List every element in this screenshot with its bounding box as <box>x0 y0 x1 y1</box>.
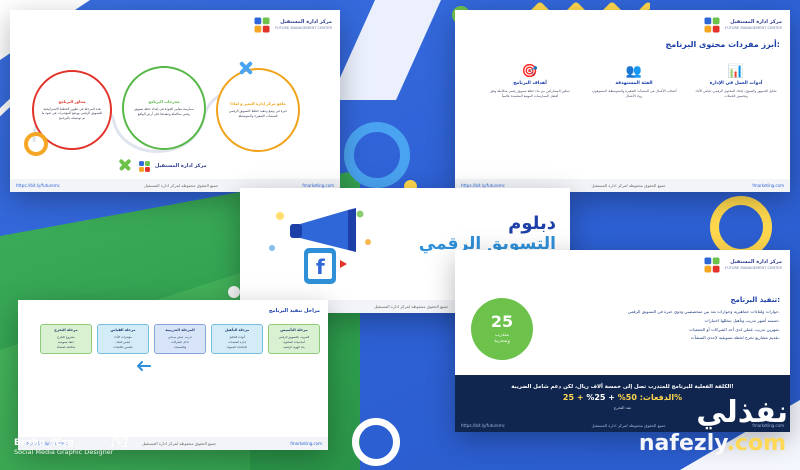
slide1-x-green <box>118 156 132 170</box>
designer-credit: Basha_dEsg Social Media Graphic Designer <box>14 438 113 456</box>
slide4-offer-2: + 25% <box>586 393 615 402</box>
slide2-col2-body: أصحاب الأعمال في المنشآت الصغيرة والمتوس… <box>590 89 678 100</box>
bubble-yellow-head: ماهو مركز إدارة التميز و لماذا <box>225 101 291 107</box>
brand-name: مركز ادارة المستقبل <box>730 259 782 265</box>
brand-text: مركز ادارة المستقبل FUTURE MANAGEMENT CE… <box>275 20 332 30</box>
flow-step-1-head: مرحلة التأسيس <box>271 328 317 332</box>
flow-step-5-body: مشروع التخرج خطة تسويقية متكاملة لمنشأة <box>43 335 89 349</box>
designer-role: Social Media Graphic Designer <box>14 448 113 456</box>
bubble-green-head: مخرجات البرنامج <box>131 99 197 105</box>
footer-center-text: جميع الحقوق محفوظة لمركز ادارة المستقبل <box>591 423 665 428</box>
brand-text: مركز ادارة المستقبل FUTURE MANAGEMENT CE… <box>725 260 782 270</box>
slide4-title: تنفيذ البرنامج: <box>730 296 780 304</box>
screenshot-stage: مركز ادارة المستقبل FUTURE MANAGEMENT CE… <box>0 0 800 470</box>
megaphone-social-icon: f <box>260 202 380 290</box>
brand-sub: FUTURE MANAGEMENT CENTER <box>725 266 782 270</box>
chart-icon: 📊 <box>692 65 780 78</box>
slide-card-program-content[interactable]: مركز ادارة المستقبل FUTURE MANAGEMENT CE… <box>455 10 790 192</box>
bubble-green: مخرجات البرنامج ممارسة معايير الجودة في … <box>122 66 206 150</box>
brand-sub: FUTURE MANAGEMENT CENTER <box>275 26 332 30</box>
slide1-x-blue <box>238 58 254 74</box>
flow-step-4-body: مؤشرات الأداء قياس العائد تحسين الحملات <box>100 335 146 349</box>
x-mark-orange-large <box>336 356 390 410</box>
bubble-red-body: هذه المرحلة في تطوير الخطط الاستراتيجية … <box>41 107 103 121</box>
bubble-red-head: محاور البرنامج <box>41 99 103 105</box>
slide2-column-3: 📊 أدوات العمل في الإدارة تحليل الجمهور و… <box>692 65 780 100</box>
flow-step-4-head: مرحلة القياس <box>100 328 146 332</box>
dot-white-small <box>228 286 240 298</box>
flow-step-1: مرحلة التأسيس التعريف بالتسويق الرقمي أس… <box>268 324 320 354</box>
flow-step-2: مرحلة التأهيل أدوات التحليل إدارة المنصا… <box>211 324 263 354</box>
bubble-red-text: محاور البرنامج هذه المرحلة في تطوير الخط… <box>34 99 110 121</box>
footer-right-url[interactable]: fmarketing.com <box>752 183 784 188</box>
brand-name: مركز ادارة المستقبل <box>280 19 332 25</box>
bubble-yellow: ماهو مركز إدارة التميز و لماذا خبرة في و… <box>216 68 300 152</box>
ring-blue-mid <box>344 122 410 188</box>
slide2-column-2: 👥 الفئة المستهدفة أصحاب الأعمال في المنش… <box>590 65 678 100</box>
slide4-badge-text: متدرب ومتدربة <box>494 332 510 344</box>
watermark-latin: nafezly.com <box>639 431 786 456</box>
slide1-bottom-brand: مركز ادارة المستقبل <box>138 160 207 173</box>
slide4-badge-number: 25 <box>491 314 513 330</box>
flow-step-3-body: تدريب عملي ميداني داخل الشركات والجمعيات <box>157 335 203 349</box>
flow-arrow-icon <box>134 360 152 372</box>
brand-name: مركز ادارة المستقبل <box>730 19 782 25</box>
footer-left-url[interactable]: https://bit.ly/futuremc <box>461 423 505 428</box>
slide-card-flow[interactable]: مراحل تنفيذ البرنامج مرحلة التأسيس التعر… <box>18 300 328 450</box>
slide4-offer-1: الدفعات: 50% <box>618 393 674 402</box>
bubble-green-body: ممارسة معايير الجودة في إعداد خطة تسويق … <box>131 107 197 117</box>
x-mark-orange-small <box>420 6 446 32</box>
slide-card-infographic[interactable]: مركز ادارة المستقبل FUTURE MANAGEMENT CE… <box>10 10 340 192</box>
watermark-arabic: نفذلي <box>696 395 788 430</box>
slide2-col1-head: أهداف البرنامج <box>486 81 574 86</box>
slide2-col2-head: الفئة المستهدفة <box>590 81 678 86</box>
flow-step-2-body: أدوات التحليل إدارة المنصات الإعلانات ال… <box>214 335 260 349</box>
brand-logo-icon <box>703 16 721 34</box>
watermark-latin-suffix: .com <box>727 431 786 456</box>
flow-step-1-body: التعريف بالتسويق الرقمي أساسيات المحتوى … <box>271 335 317 349</box>
flow-step-3-head: المرحلة التدريبية <box>157 328 203 332</box>
brand-sub: FUTURE MANAGEMENT CENTER <box>725 26 782 30</box>
footer-center-text: جميع الحقوق محفوظة لمركز ادارة المستقبل <box>591 183 665 188</box>
brand-mark: مركز ادارة المستقبل FUTURE MANAGEMENT CE… <box>253 16 332 34</box>
slide2-col3-body: تحليل الجمهور والسوق، إعداد المحتوى الرق… <box>692 89 780 100</box>
footer-center-text: جميع الحقوق محفوظة لمركز ادارة المستقبل <box>374 304 448 309</box>
slide5-title: مراحل تنفيذ البرنامج <box>269 308 320 314</box>
slide4-banner-line1: الكلفة الفعلية للبرنامج للمتدرب تصل إلى … <box>511 384 733 390</box>
slide4-bullet-list: حوارات ولقاءات جماهيرية وحوارات بعد بين … <box>530 308 780 343</box>
brand-logo-icon <box>253 16 271 34</box>
flow-step-5: مرحلة التخرج مشروع التخرج خطة تسويقية مت… <box>40 324 92 354</box>
people-icon: 👥 <box>590 65 678 78</box>
slide4-bullet-2: خمسة أشهر تدريب وتأهيل يتخللها اختبارات. <box>530 317 780 326</box>
brand-name: مركز ادارة المستقبل <box>155 163 207 169</box>
footer-center-text: جميع الحقوق محفوظة لمركز ادارة المستقبل <box>142 441 216 446</box>
brand-mark: مركز ادارة المستقبل FUTURE MANAGEMENT CE… <box>703 16 782 34</box>
bubble-yellow-text: ماهو مركز إدارة التميز و لماذا خبرة في و… <box>218 101 298 118</box>
ring-yellow-right <box>710 196 772 258</box>
flow-step-5-head: مرحلة التخرج <box>43 328 89 332</box>
footer-left-url[interactable]: https://bit.ly/futuremc <box>16 183 60 188</box>
svg-text:f: f <box>316 255 325 279</box>
slide2-col1-body: تمكين المشاركين من بناء خطة تسويق رقمي م… <box>486 89 574 100</box>
slide2-column-1: 🎯 أهداف البرنامج تمكين المشاركين من بناء… <box>486 65 574 100</box>
slide4-bullet-4: تقديم مشاريع تخرج لخطة تسويقية لإحدى الم… <box>530 334 780 343</box>
target-icon: 🎯 <box>486 65 574 78</box>
brand-text: مركز ادارة المستقبل <box>155 164 207 170</box>
slide4-offers: الدفعات: 50% + 25% + 25% <box>563 393 682 402</box>
watermark-latin-main: nafezly <box>639 431 727 456</box>
footer-center-text: جميع الحقوق محفوظة لمركز ادارة المستقبل <box>144 183 218 188</box>
flow-step-3: المرحلة التدريبية تدريب عملي ميداني داخل… <box>154 324 206 354</box>
designer-signature: M <box>110 428 130 452</box>
ring-white-bottom <box>352 418 400 466</box>
slide5-flow-row: مرحلة التأسيس التعريف بالتسويق الرقمي أس… <box>26 324 320 354</box>
brand-logo-icon <box>138 160 151 173</box>
slide2-col3-head: أدوات العمل في الإدارة <box>692 81 780 86</box>
slide3-title-block: دبلوم التسويق الرقمي <box>419 214 556 254</box>
slide4-trainee-badge: 25 متدرب ومتدربة <box>471 298 533 360</box>
flow-step-4: مرحلة القياس مؤشرات الأداء قياس العائد ت… <box>97 324 149 354</box>
slide3-line1: دبلوم <box>419 214 556 235</box>
brand-logo-icon <box>703 256 721 274</box>
flow-step-2-head: مرحلة التأهيل <box>214 328 260 332</box>
slide2-title: أبرز مفردات محتوى البرنامج: <box>665 40 780 49</box>
slide1-dot-yellow <box>24 132 48 156</box>
footer-right-url[interactable]: fmarketing.com <box>290 441 322 446</box>
designer-name: Basha_dEsg <box>14 438 113 448</box>
slide4-note: عند التخرج <box>614 405 632 410</box>
bubble-yellow-body: خبرة في وضع وتنفيذ خطط التسويق الرقمي لل… <box>225 109 291 119</box>
bubble-green-text: مخرجات البرنامج ممارسة معايير الجودة في … <box>124 99 204 116</box>
brand-text: مركز ادارة المستقبل FUTURE MANAGEMENT CE… <box>725 20 782 30</box>
slide4-bullet-1: حوارات ولقاءات جماهيرية وحوارات بعد بين … <box>530 308 780 317</box>
brand-mark: مركز ادارة المستقبل FUTURE MANAGEMENT CE… <box>703 256 782 274</box>
slide4-bullet-3: شهرين تدريب عملي لدى أحد الشركات أو الجم… <box>530 326 780 335</box>
